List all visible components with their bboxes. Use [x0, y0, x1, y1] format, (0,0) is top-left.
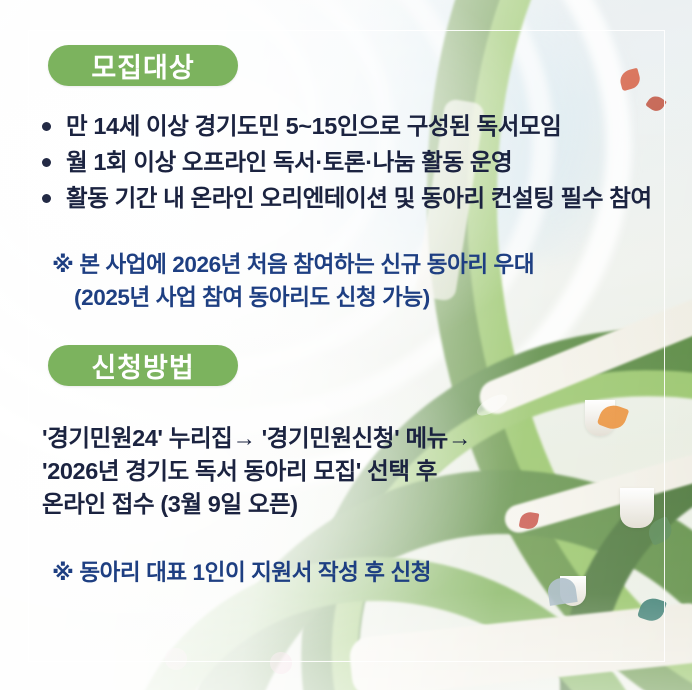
list-item: 만 14세 이상 경기도민 5~15인으로 구성된 독서모임 [38, 108, 688, 144]
poster-card: 모집대상 만 14세 이상 경기도민 5~15인으로 구성된 독서모임 월 1회… [0, 0, 692, 690]
note-line-1: ※ 동아리 대표 1인이 지원서 작성 후 신청 [52, 560, 431, 585]
list-item: 월 1회 이상 오프라인 독서·토론·나눔 활동 운영 [38, 144, 688, 180]
note-line-2: (2025년 사업 참여 동아리도 신청 가능) [52, 281, 534, 314]
application-method-note: ※ 동아리 대표 1인이 지원서 작성 후 신청 [52, 556, 431, 589]
list-item: 활동 기간 내 온라인 오리엔테이션 및 동아리 컨설팅 필수 참여 [38, 180, 688, 216]
application-steps: '경기민원24' 누리집→ '경기민원신청' 메뉴→ '2026년 경기도 독서… [42, 422, 471, 521]
application-step-1: '경기민원24' 누리집→ '경기민원신청' 메뉴→ [42, 422, 471, 455]
note-line-1: ※ 본 사업에 2026년 처음 참여하는 신규 동아리 우대 [52, 252, 534, 277]
poster-content: 모집대상 만 14세 이상 경기도민 5~15인으로 구성된 독서모임 월 1회… [0, 0, 692, 690]
recruitment-target-note: ※ 본 사업에 2026년 처음 참여하는 신규 동아리 우대 (2025년 사… [52, 248, 534, 314]
section-badge-application-method: 신청방법 [48, 345, 238, 386]
section-badge-recruitment-target: 모집대상 [48, 45, 238, 86]
application-step-2: '2026년 경기도 독서 동아리 모집' 선택 후 [42, 455, 471, 488]
recruitment-target-list: 만 14세 이상 경기도민 5~15인으로 구성된 독서모임 월 1회 이상 오… [38, 108, 688, 216]
application-step-3: 온라인 접수 (3월 9일 오픈) [42, 488, 471, 521]
